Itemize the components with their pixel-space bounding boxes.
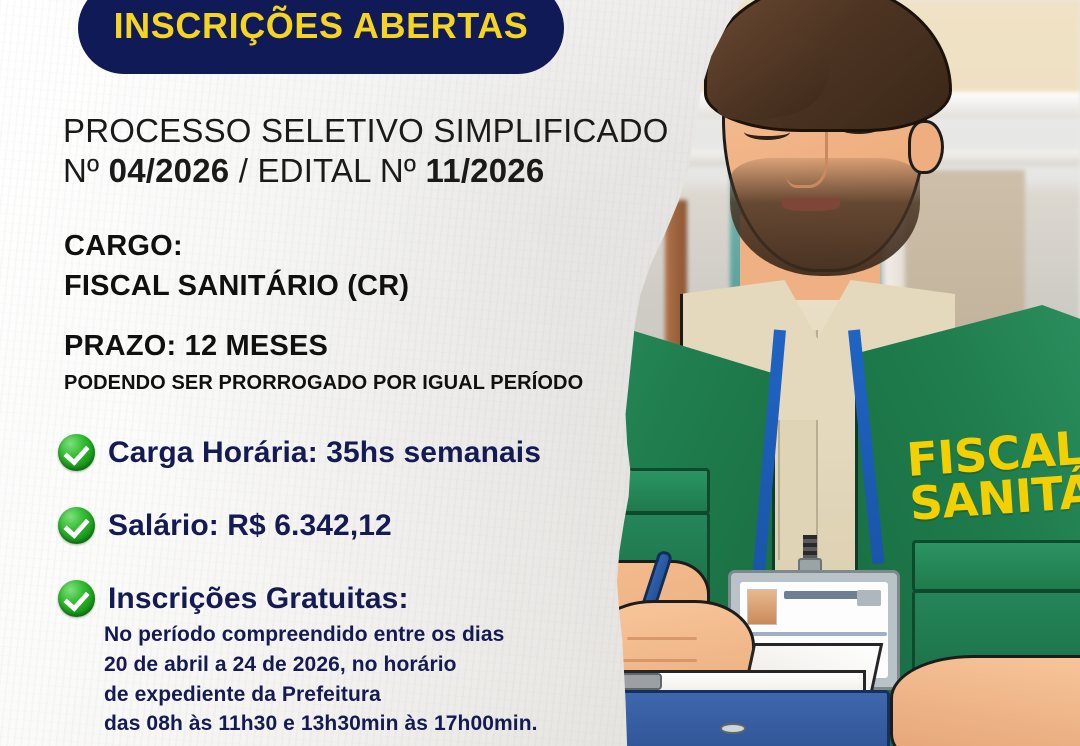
content-layer: INSCRIÇÕES ABERTAS PROCESSO SELETIVO SIM… <box>0 0 1080 746</box>
bullet-label: Inscrições Gratuitas: <box>108 582 409 616</box>
list-item: Salário: R$ 6.342,12 <box>58 507 541 544</box>
prazo-note: PODENDO SER PRORROGADO POR IGUAL PERÍODO <box>64 372 583 395</box>
status-badge-label: INSCRIÇÕES ABERTAS <box>114 5 529 47</box>
heading-edital-number: 11/2026 <box>426 152 545 189</box>
heading-prefix: Nº <box>63 152 109 189</box>
check-circle-icon <box>58 434 95 471</box>
status-badge: INSCRIÇÕES ABERTAS <box>78 0 564 74</box>
list-item: Carga Horária: 35hs semanais <box>58 434 541 471</box>
period-line-2: 20 de abril a 24 de 2026, no horário <box>104 650 538 680</box>
cargo-block: CARGO: FISCAL SANITÁRIO (CR) <box>64 226 409 306</box>
heading-process-number: 04/2026 <box>109 152 230 189</box>
heading-block: PROCESSO SELETIVO SIMPLIFICADO Nº 04/202… <box>63 111 669 192</box>
heading-line-2: Nº 04/2026 / EDITAL Nº 11/2026 <box>63 151 669 191</box>
period-line-3: de expediente da Prefeitura <box>104 680 538 710</box>
bullet-label: Salário: R$ 6.342,12 <box>108 509 392 543</box>
heading-line-1: PROCESSO SELETIVO SIMPLIFICADO <box>63 111 669 151</box>
bullet-label: Carga Horária: 35hs semanais <box>108 436 541 470</box>
prazo-block: PRAZO: 12 MESES PODENDO SER PRORROGADO P… <box>64 328 583 395</box>
bullet-list: Carga Horária: 35hs semanais Salário: R$… <box>58 434 541 617</box>
list-item: Inscrições Gratuitas: <box>58 580 541 617</box>
poster: FISCAL SANITÁRIO <box>0 0 1080 746</box>
cargo-value: FISCAL SANITÁRIO (CR) <box>64 266 409 306</box>
period-line-4: das 08h às 11h30 e 13h30min às 17h00min. <box>104 709 538 739</box>
period-paragraph: No período compreendido entre os dias 20… <box>104 620 538 739</box>
period-line-1: No período compreendido entre os dias <box>104 620 538 650</box>
prazo-label: PRAZO: 12 MESES <box>64 328 583 366</box>
check-circle-icon <box>58 580 95 617</box>
check-circle-icon <box>58 507 95 544</box>
cargo-label: CARGO: <box>64 226 409 266</box>
heading-middle: / EDITAL Nº <box>229 152 425 189</box>
